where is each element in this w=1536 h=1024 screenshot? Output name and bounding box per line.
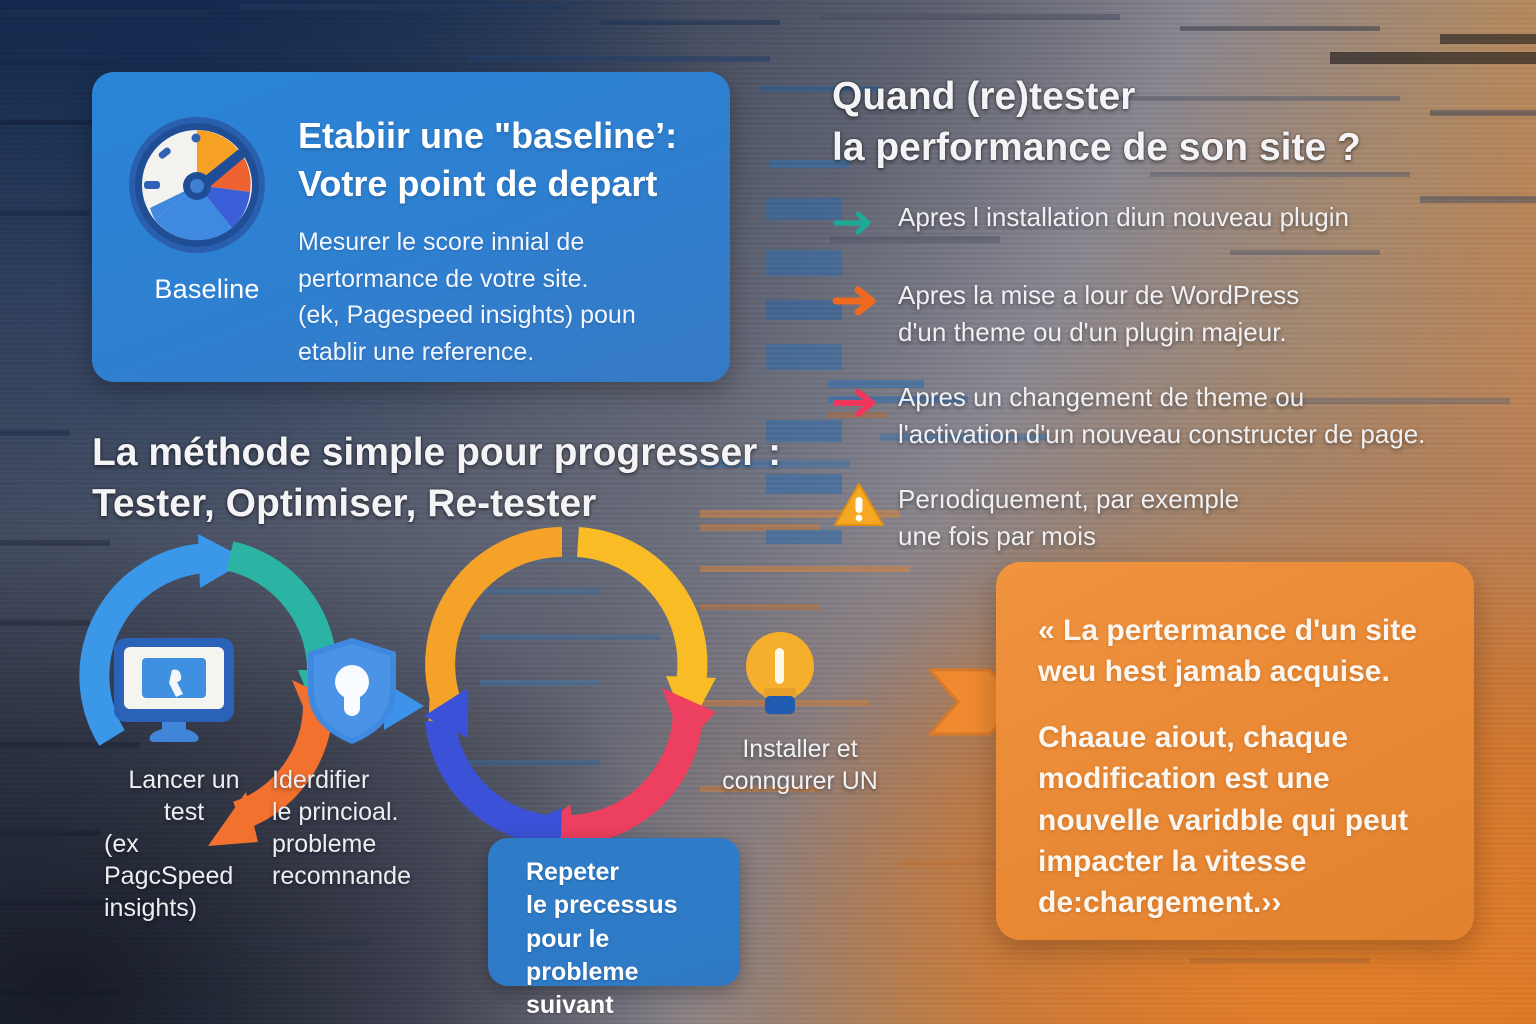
arrow-right-icon [832, 275, 898, 327]
baseline-title-line2: Votre point de depart [298, 160, 677, 208]
step-test-line4: PagcSpeed [104, 860, 264, 892]
gauge-block: Baseline [122, 98, 292, 305]
step-cycle-caption: Installer et conngurer UN [700, 733, 900, 797]
when-retest-list: Apres l installation diun nouveau plugin… [832, 197, 1522, 554]
when-title-line2: la performance de son site ? [832, 123, 1522, 174]
list-item: Apres l installation diun nouveau plugin [832, 197, 1522, 249]
lightbulb-icon [738, 624, 822, 728]
method-section-heading: La méthode simple pour progresser : Test… [92, 428, 812, 529]
warning-triangle-icon [832, 479, 898, 531]
list-item-line1: Apres la mise a lour de WordPress [898, 277, 1299, 314]
step-identify-line2: le princioal. [272, 796, 450, 828]
quote-p1-line2: weu hest jamab acquise. [1038, 651, 1438, 692]
list-item-line2: d'un theme ou d'un plugin majeur. [898, 314, 1299, 351]
step-identify-line1: Iderdifier [272, 764, 450, 796]
when-title-line1: Quand (re)tester [832, 72, 1522, 123]
when-retest-section: Quand (re)tester la performance de son s… [832, 72, 1522, 581]
step-test-line3: (ex [104, 828, 264, 860]
quote-paragraph-1: « La pertermance d'un site weu hest jama… [1038, 610, 1438, 693]
baseline-body-line4: etablir une reference. [298, 334, 677, 371]
list-item: Apres un changement de theme ou l'activa… [832, 377, 1522, 453]
list-item-line1: Perıodiquement, par exemple [898, 481, 1239, 518]
repeat-line3: pour le probleme [526, 923, 720, 990]
quote-paragraph-2: Chaaue aiout, chaque modification est un… [1038, 717, 1438, 924]
step-identify-caption: Iderdifier le princioal. probleme recomn… [272, 764, 450, 892]
quote-p2-line2: modification est une [1038, 758, 1438, 799]
step-identify-line3: probleme [272, 828, 450, 860]
quote-card: « La pertermance d'un site weu hest jama… [996, 562, 1474, 940]
step-test-line5: insights) [104, 892, 264, 924]
baseline-body-line2: pertormance de votre site. [298, 261, 677, 298]
infographic-canvas: Baseline Etabiir une "baseline’: Votre p… [0, 0, 1536, 1024]
list-item: Apres la mise a lour de WordPress d'un t… [832, 275, 1522, 351]
baseline-body-line1: Mesurer le score innial de [298, 224, 677, 261]
repeat-line1: Repeter [526, 856, 720, 889]
method-title-line1: La méthode simple pour progresser : [92, 428, 812, 479]
arrow-right-icon [832, 377, 898, 429]
method-title-line2: Tester, Optimiser, Re-tester [92, 479, 812, 530]
step-test-caption: Lancer un test (ex PagcSpeed insights) [104, 764, 264, 924]
baseline-text-block: Etabiir une "baseline’: Votre point de d… [292, 98, 677, 371]
step-cycle-line2: conngurer UN [700, 765, 900, 797]
list-item-line1: Apres l installation diun nouveau plugin [898, 199, 1349, 236]
quote-p1-line1: « La pertermance d'un site [1038, 610, 1438, 651]
monitor-search-icon [110, 634, 238, 750]
quote-p2-line1: Chaaue aiout, chaque [1038, 717, 1438, 758]
step-test-line1: Lancer un [104, 764, 264, 796]
baseline-title-line1: Etabiir une "baseline’: [298, 112, 677, 160]
speed-gauge-icon [122, 110, 272, 260]
baseline-body-line3: (ek, Pagespeed insights) poun [298, 297, 677, 334]
cycle-arrow-right-yellow [578, 542, 716, 730]
step-test-line2: test [104, 796, 264, 828]
quote-p2-line3: nouvelle varidble qui peut [1038, 800, 1438, 841]
arrow-right-icon [832, 197, 898, 249]
shield-bulb-icon [300, 634, 404, 750]
repeat-line4: suivant [526, 989, 720, 1022]
step-cycle-line1: Installer et [700, 733, 900, 765]
gauge-caption: Baseline [122, 274, 292, 305]
quote-p2-line5: de:chargement.›› [1038, 882, 1438, 923]
baseline-card: Baseline Etabiir une "baseline’: Votre p… [92, 72, 730, 382]
list-item-line2: l'activation d'un nouveau constructer de… [898, 416, 1425, 453]
quote-p2-line4: impacter la vitesse [1038, 841, 1438, 882]
step-identify-line4: recomnande [272, 860, 450, 892]
list-item-line1: Apres un changement de theme ou [898, 379, 1425, 416]
repeat-line2: le precessus [526, 889, 720, 922]
repeat-process-card: Repeter le precessus pour le probleme su… [488, 838, 740, 986]
